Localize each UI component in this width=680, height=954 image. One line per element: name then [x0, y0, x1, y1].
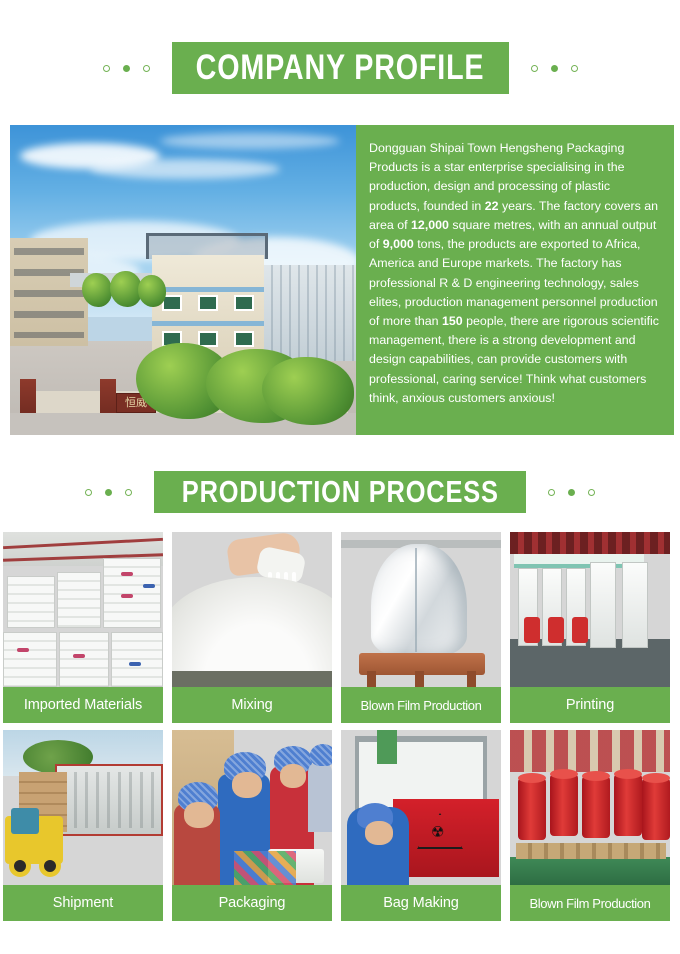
section-heading-production-process: PRODUCTION PROCESS — [0, 471, 680, 513]
company-profile-title-bar: COMPANY PROFILE — [172, 42, 509, 94]
photo-colorful-goods — [234, 851, 296, 885]
photo-hanging-tag — [377, 730, 397, 764]
photo-tree — [138, 275, 166, 307]
photo-press-unit — [590, 562, 616, 648]
photo-tree — [82, 273, 112, 307]
dot-hollow-icon — [143, 65, 150, 72]
photo-sack-label — [121, 572, 133, 576]
photo-sack-stack — [59, 632, 109, 687]
photo-sack-stack — [57, 572, 101, 628]
process-cell-blown-film-production-rolls[interactable]: Blown Film Production — [510, 730, 670, 921]
photo-film-bubble — [371, 544, 467, 656]
page-title: COMPANY PROFILE — [196, 48, 485, 88]
decorative-dots-left — [85, 489, 132, 496]
photo-press-unit — [622, 562, 648, 648]
photo-sack-stack — [7, 576, 55, 628]
process-caption: Shipment — [3, 885, 163, 921]
dot-filled-icon — [551, 65, 558, 72]
dot-hollow-icon — [588, 489, 595, 496]
production-process-title-bar: PRODUCTION PROCESS — [154, 471, 526, 513]
photo-sack-label — [17, 648, 29, 652]
process-cell-mixing[interactable]: Mixing — [172, 532, 332, 723]
photo-building-band — [152, 287, 264, 292]
photo-building-band — [152, 321, 264, 326]
process-photo-packaging — [172, 730, 332, 885]
process-cell-bag-making[interactable]: ☢ Bag Making — [341, 730, 501, 921]
process-photo-blown-film — [341, 532, 501, 687]
process-photo-bag-making: ☢ — [341, 730, 501, 885]
photo-face — [365, 821, 393, 845]
photo-hair-cap — [310, 744, 332, 766]
photo-face — [280, 764, 306, 788]
process-caption: Packaging — [172, 885, 332, 921]
process-cell-blown-film-production[interactable]: Blown Film Production — [341, 532, 501, 723]
production-process-grid: Imported Materials Mixing — [0, 532, 680, 921]
dot-hollow-icon — [571, 65, 578, 72]
dot-hollow-icon — [531, 65, 538, 72]
process-cell-imported-materials[interactable]: Imported Materials — [3, 532, 163, 723]
photo-pallet — [516, 843, 666, 859]
decorative-dots-right — [531, 65, 578, 72]
process-row: Imported Materials Mixing — [0, 532, 680, 723]
photo-film-roll — [614, 774, 642, 836]
process-photo-imported-materials — [3, 532, 163, 687]
cloud-shape — [90, 159, 280, 179]
photo-green-floor — [510, 857, 670, 885]
photo-face — [184, 802, 214, 828]
photo-red-roll — [548, 617, 564, 643]
photo-film-roll — [582, 776, 610, 838]
process-photo-shipment — [3, 730, 163, 885]
company-profile-paragraph: Dongguan Shipai Town Hengsheng Packaging… — [356, 125, 674, 435]
dot-hollow-icon — [103, 65, 110, 72]
biohazard-glyph-icon: ☢ — [431, 823, 444, 841]
dot-filled-icon — [568, 489, 575, 496]
dot-hollow-icon — [85, 489, 92, 496]
dot-filled-icon — [123, 65, 130, 72]
process-cell-shipment[interactable]: Shipment — [3, 730, 163, 921]
process-caption: Mixing — [172, 687, 332, 723]
photo-window — [198, 295, 218, 311]
photo-window — [234, 331, 254, 347]
factory-photo — [10, 125, 356, 435]
company-profile-block: Dongguan Shipai Town Hengsheng Packaging… — [10, 125, 674, 435]
photo-building-right — [262, 265, 356, 361]
photo-face — [232, 772, 262, 798]
page-root: COMPANY PROFILE — [0, 0, 680, 954]
photo-wheel — [39, 855, 61, 877]
photo-sack-label — [121, 594, 133, 598]
photo-wheel — [9, 855, 31, 877]
photo-forklift-cab — [11, 808, 39, 834]
photo-truck — [55, 764, 163, 836]
process-caption: Imported Materials — [3, 687, 163, 723]
photo-sack-label — [143, 584, 155, 588]
photo-machine-leg — [467, 671, 476, 687]
photo-machine-leg — [367, 671, 376, 687]
process-photo-mixing — [172, 532, 332, 687]
photo-sack-stack — [111, 632, 163, 687]
photo-machine-leg — [415, 671, 424, 687]
photo-sack-label — [129, 662, 141, 666]
photo-tray — [172, 671, 332, 687]
section-heading-company-profile: COMPANY PROFILE — [0, 42, 680, 94]
process-photo-printing — [510, 532, 670, 687]
photo-film-roll — [518, 778, 546, 840]
process-caption: Printing — [510, 687, 670, 723]
photo-sack-label — [73, 654, 85, 658]
process-caption: Blown Film Production — [510, 885, 670, 921]
photo-film-roll — [642, 778, 670, 840]
photo-back-shelf — [510, 730, 670, 772]
photo-film-crease — [415, 548, 417, 652]
decorative-dots-right — [548, 489, 595, 496]
decorative-dots-left — [103, 65, 150, 72]
process-cell-packaging[interactable]: Packaging — [172, 730, 332, 921]
photo-building-left — [10, 238, 88, 346]
section-title: PRODUCTION PROCESS — [181, 474, 498, 510]
photo-window — [234, 295, 254, 311]
process-row: Shipment — [0, 730, 680, 921]
photo-red-roll — [524, 617, 540, 643]
photo-worker — [308, 762, 332, 832]
dot-filled-icon — [105, 489, 112, 496]
photo-sack-stack — [3, 632, 57, 687]
dot-hollow-icon — [548, 489, 555, 496]
process-caption: Blown Film Production — [341, 687, 501, 723]
photo-overhead-rack — [510, 532, 670, 554]
process-photo-film-rolls — [510, 730, 670, 885]
photo-red-roll — [572, 617, 588, 643]
process-caption: Bag Making — [341, 885, 501, 921]
photo-film-roll — [550, 774, 578, 836]
cloud-shape — [160, 133, 340, 149]
photo-sack-stack — [103, 558, 161, 628]
process-cell-printing[interactable]: Printing — [510, 532, 670, 723]
dot-hollow-icon — [125, 489, 132, 496]
